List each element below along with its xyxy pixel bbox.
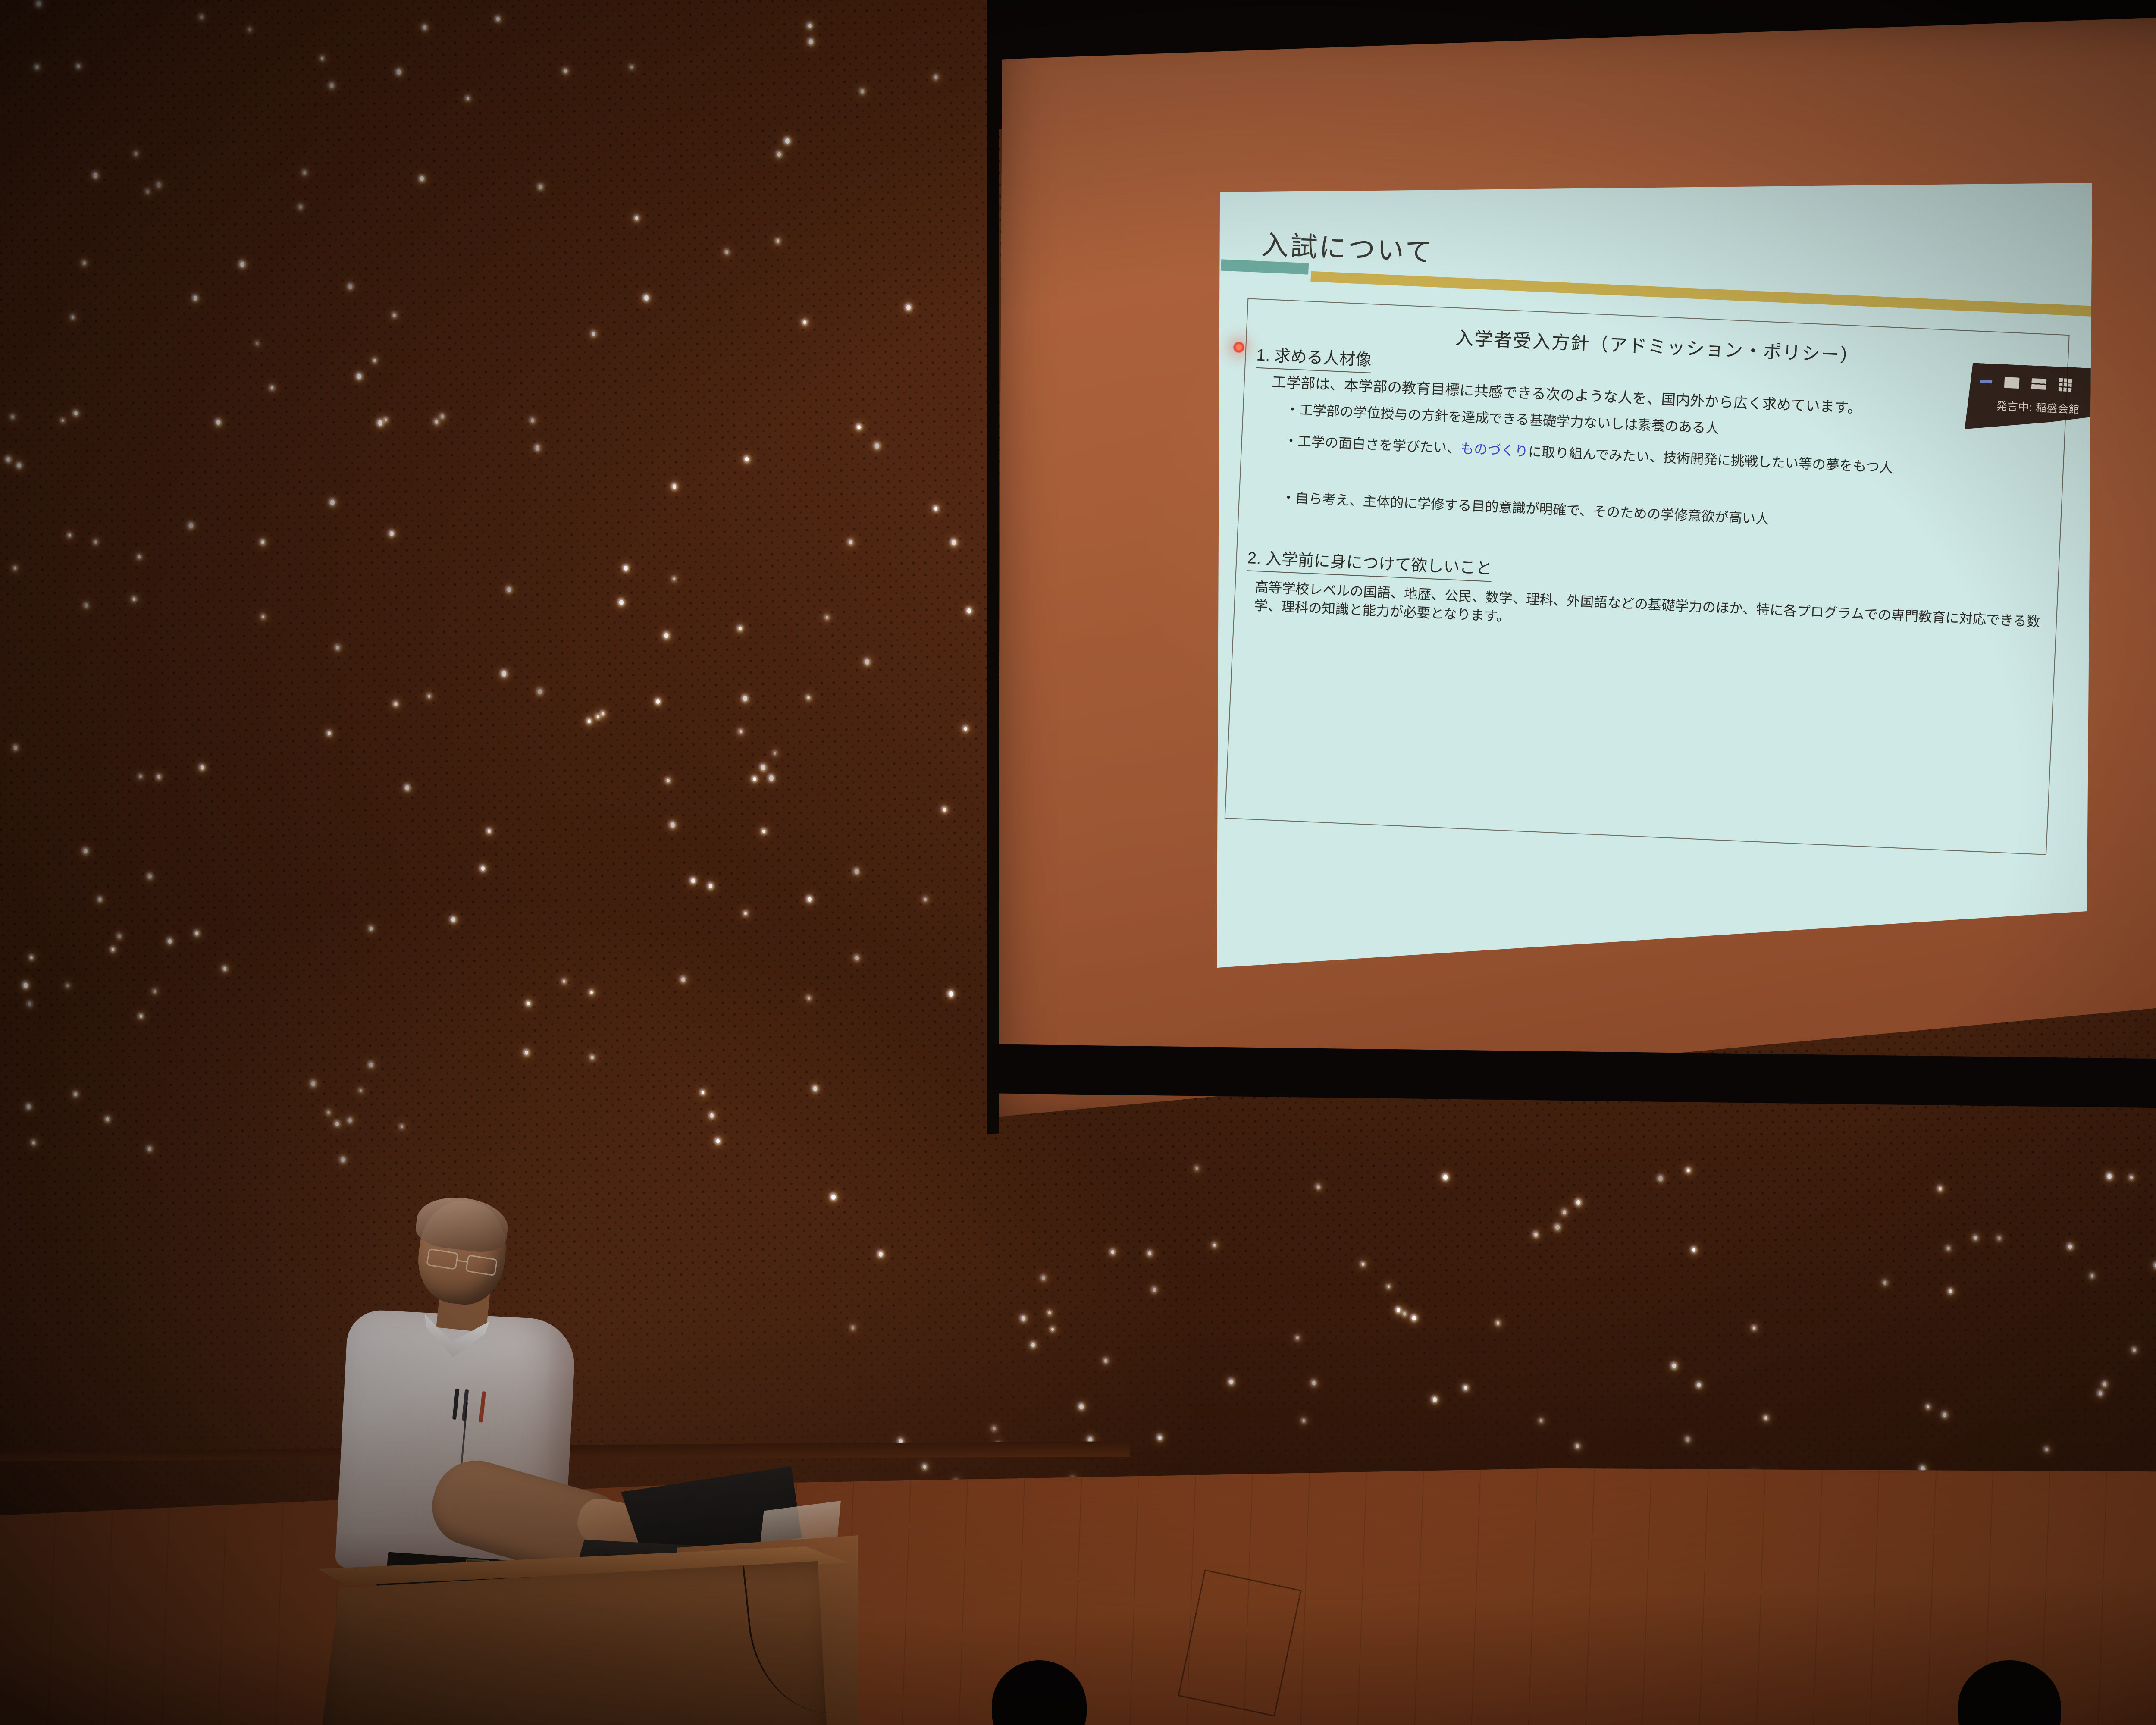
star-light xyxy=(1042,1276,1045,1280)
star-light xyxy=(256,342,258,345)
star-light xyxy=(785,138,790,144)
star-light xyxy=(200,15,203,19)
star-light xyxy=(745,457,749,461)
star-light xyxy=(538,689,542,694)
star-light xyxy=(1947,1247,1950,1250)
star-light xyxy=(394,702,398,706)
star-light xyxy=(673,577,675,580)
star-light xyxy=(1974,1236,1977,1240)
star-light xyxy=(1362,1263,1364,1266)
star-light xyxy=(831,1195,836,1200)
star-light xyxy=(94,540,97,544)
star-light xyxy=(423,25,426,30)
projected-slide: 入試について 入学者受入方針（アドミッション・ポリシー） 1. 求める人材像 工… xyxy=(1217,183,2092,968)
lecture-hall-photo: 入試について 入学者受入方針（アドミッション・ポリシー） 1. 求める人材像 工… xyxy=(0,0,2156,1725)
star-light xyxy=(1104,1359,1107,1363)
star-light xyxy=(240,262,244,267)
star-light xyxy=(74,411,78,415)
star-light xyxy=(691,878,695,883)
star-light xyxy=(435,420,438,424)
star-light xyxy=(428,695,430,698)
star-light xyxy=(451,917,455,922)
star-light xyxy=(11,415,14,419)
star-light xyxy=(133,598,135,601)
overlay-icon-row[interactable] xyxy=(1980,375,2072,392)
star-light xyxy=(373,359,376,362)
star-light xyxy=(420,176,424,181)
star-light xyxy=(201,765,204,770)
star-light xyxy=(17,463,21,468)
star-light xyxy=(1229,1380,1233,1384)
star-light xyxy=(83,261,86,265)
star-light xyxy=(619,600,624,605)
star-light xyxy=(502,671,506,677)
star-light xyxy=(865,659,869,665)
star-light xyxy=(2099,1391,2102,1396)
bullet2-after: に取り組んでみたい、技術開発に挑戦したい等の夢をもつ人 xyxy=(1528,444,1893,475)
star-light xyxy=(1497,1321,1499,1325)
section2-paragraph: 高等学校レベルの国語、地歴、公民、数学、理科、外国語などの基礎学力のほか、特に各… xyxy=(1253,578,2046,649)
star-light xyxy=(967,608,971,613)
star-light xyxy=(2103,1382,2106,1386)
star-light xyxy=(148,874,152,879)
star-light xyxy=(597,715,599,718)
star-light xyxy=(106,1117,109,1121)
star-light xyxy=(656,699,660,704)
star-light xyxy=(725,250,728,254)
star-light xyxy=(1998,1236,2001,1240)
star-light xyxy=(1303,1419,1305,1422)
star-light xyxy=(591,1056,594,1059)
star-light xyxy=(223,967,226,971)
split-view-icon[interactable] xyxy=(2031,378,2047,389)
star-light xyxy=(24,983,28,988)
star-light xyxy=(397,69,401,75)
star-light xyxy=(154,990,156,993)
star-light xyxy=(943,808,946,812)
star-light xyxy=(525,1051,528,1055)
star-light xyxy=(271,386,273,389)
minimize-icon[interactable] xyxy=(1980,379,1993,383)
star-light xyxy=(1464,1386,1467,1390)
star-light xyxy=(330,83,334,88)
star-light xyxy=(1555,1225,1560,1230)
star-light xyxy=(1148,1251,1151,1255)
star-light xyxy=(1031,1343,1035,1347)
star-light xyxy=(630,66,633,69)
star-light xyxy=(370,927,373,931)
star-light xyxy=(85,603,88,608)
star-light xyxy=(777,239,779,243)
star-light xyxy=(14,746,17,750)
star-light xyxy=(855,869,859,874)
star-light xyxy=(369,1063,373,1067)
star-light xyxy=(261,540,264,544)
star-light xyxy=(739,627,742,630)
star-light xyxy=(348,1118,352,1123)
star-light xyxy=(923,1465,926,1469)
star-light xyxy=(1753,1327,1755,1330)
star-light xyxy=(588,719,591,723)
star-light xyxy=(702,1091,704,1094)
section1-bullet-3: ・自ら考え、主体的に学修する目的意識が明確で、そのための学修意欲が高い人 xyxy=(1281,489,2043,540)
star-light xyxy=(1540,1419,1542,1422)
star-light xyxy=(673,484,676,489)
star-light xyxy=(906,305,911,310)
star-light xyxy=(1697,1383,1701,1387)
star-light xyxy=(1388,1285,1390,1288)
star-light xyxy=(1153,1288,1156,1292)
star-light xyxy=(1022,1316,1025,1321)
star-light xyxy=(808,24,812,28)
star-light xyxy=(330,500,335,505)
section1-heading: 1. 求める人材像 xyxy=(1256,342,1373,373)
star-light xyxy=(563,980,565,983)
star-light xyxy=(808,997,810,1000)
star-light xyxy=(303,171,306,175)
star-light xyxy=(496,17,500,21)
star-light xyxy=(857,425,861,429)
star-light xyxy=(531,418,534,423)
star-light xyxy=(671,822,675,828)
star-light xyxy=(1048,1311,1051,1314)
star-light xyxy=(964,727,967,731)
star-light xyxy=(1403,1312,1406,1316)
pen-icon xyxy=(479,1391,486,1423)
star-light xyxy=(299,205,302,209)
star-light xyxy=(168,939,172,944)
star-light xyxy=(35,65,39,69)
section2-heading: 2. 入学前に身につけて欲しいこと xyxy=(1247,544,1493,582)
star-light xyxy=(667,779,670,782)
star-light xyxy=(1296,1336,1299,1339)
star-light xyxy=(590,991,593,994)
screen-weight-bar xyxy=(993,1039,2156,1121)
star-light xyxy=(1943,1413,1946,1417)
star-light xyxy=(564,69,567,73)
star-light xyxy=(743,696,747,701)
star-light xyxy=(762,830,765,833)
star-light xyxy=(2045,1448,2048,1451)
slide-content-box: 入学者受入方針（アドミッション・ポリシー） 1. 求める人材像 工学部は、本学部… xyxy=(1225,298,2070,855)
star-light xyxy=(777,152,781,157)
star-light xyxy=(1927,1405,1929,1408)
star-light xyxy=(709,884,712,888)
star-light xyxy=(1672,1364,1676,1368)
glasses-bridge xyxy=(458,1260,467,1262)
star-light xyxy=(952,540,956,545)
star-light xyxy=(157,182,161,188)
star-light xyxy=(1412,1316,1416,1320)
star-light xyxy=(327,1111,330,1114)
star-light xyxy=(194,296,197,301)
star-light xyxy=(2133,1348,2136,1352)
active-speaker-label: 発言中: 稲盛会館 xyxy=(1996,397,2080,416)
pocket-pens xyxy=(452,1389,494,1427)
star-light xyxy=(378,420,382,426)
star-light xyxy=(934,75,937,79)
star-light xyxy=(740,730,742,733)
bullet2-before: ・工学の面白さを学びたい、 xyxy=(1284,433,1460,456)
star-light xyxy=(664,633,668,638)
bullet2-highlight: ものづくり xyxy=(1460,441,1529,459)
star-light xyxy=(1764,1416,1767,1420)
star-light xyxy=(393,314,396,317)
star-light xyxy=(769,775,774,781)
star-light xyxy=(993,1427,996,1430)
laser-pointer-dot xyxy=(1233,341,1245,353)
star-light xyxy=(807,696,810,699)
star-light xyxy=(1111,1250,1114,1254)
star-light xyxy=(77,64,80,68)
star-light xyxy=(1576,1444,1579,1448)
star-light xyxy=(527,1002,530,1005)
star-light xyxy=(761,765,765,770)
star-light xyxy=(118,934,121,938)
star-light xyxy=(481,866,485,871)
star-light xyxy=(644,295,649,301)
star-light xyxy=(336,646,339,650)
star-light xyxy=(536,445,539,451)
star-light xyxy=(146,190,149,194)
gallery-view-icon[interactable] xyxy=(2059,378,2072,392)
star-light xyxy=(1079,1404,1084,1409)
star-light xyxy=(849,540,852,544)
star-light xyxy=(808,897,812,902)
star-light xyxy=(710,1113,714,1118)
star-light xyxy=(949,991,953,997)
star-light xyxy=(138,555,141,558)
star-light xyxy=(861,89,864,94)
star-light xyxy=(348,284,352,289)
star-light xyxy=(635,216,638,220)
star-light xyxy=(385,418,387,421)
star-light xyxy=(855,956,859,960)
star-light xyxy=(1686,1437,1689,1442)
star-light xyxy=(357,374,361,379)
star-light xyxy=(1312,1381,1316,1385)
speaker-view-icon[interactable] xyxy=(2004,377,2020,389)
star-light xyxy=(405,785,409,790)
star-light xyxy=(879,1252,883,1257)
star-light xyxy=(189,523,193,528)
star-light xyxy=(753,777,756,781)
star-light xyxy=(2068,1245,2072,1249)
star-light xyxy=(37,1,41,6)
star-light xyxy=(681,977,685,982)
star-light xyxy=(216,420,220,425)
star-light xyxy=(72,316,74,319)
star-light xyxy=(328,731,331,735)
star-light xyxy=(774,752,776,755)
star-light xyxy=(624,566,628,571)
star-light xyxy=(1051,1328,1054,1331)
star-light xyxy=(716,1139,720,1143)
star-light xyxy=(139,775,142,778)
star-light xyxy=(1949,1289,1952,1293)
star-light xyxy=(262,615,264,618)
star-light xyxy=(809,39,813,44)
